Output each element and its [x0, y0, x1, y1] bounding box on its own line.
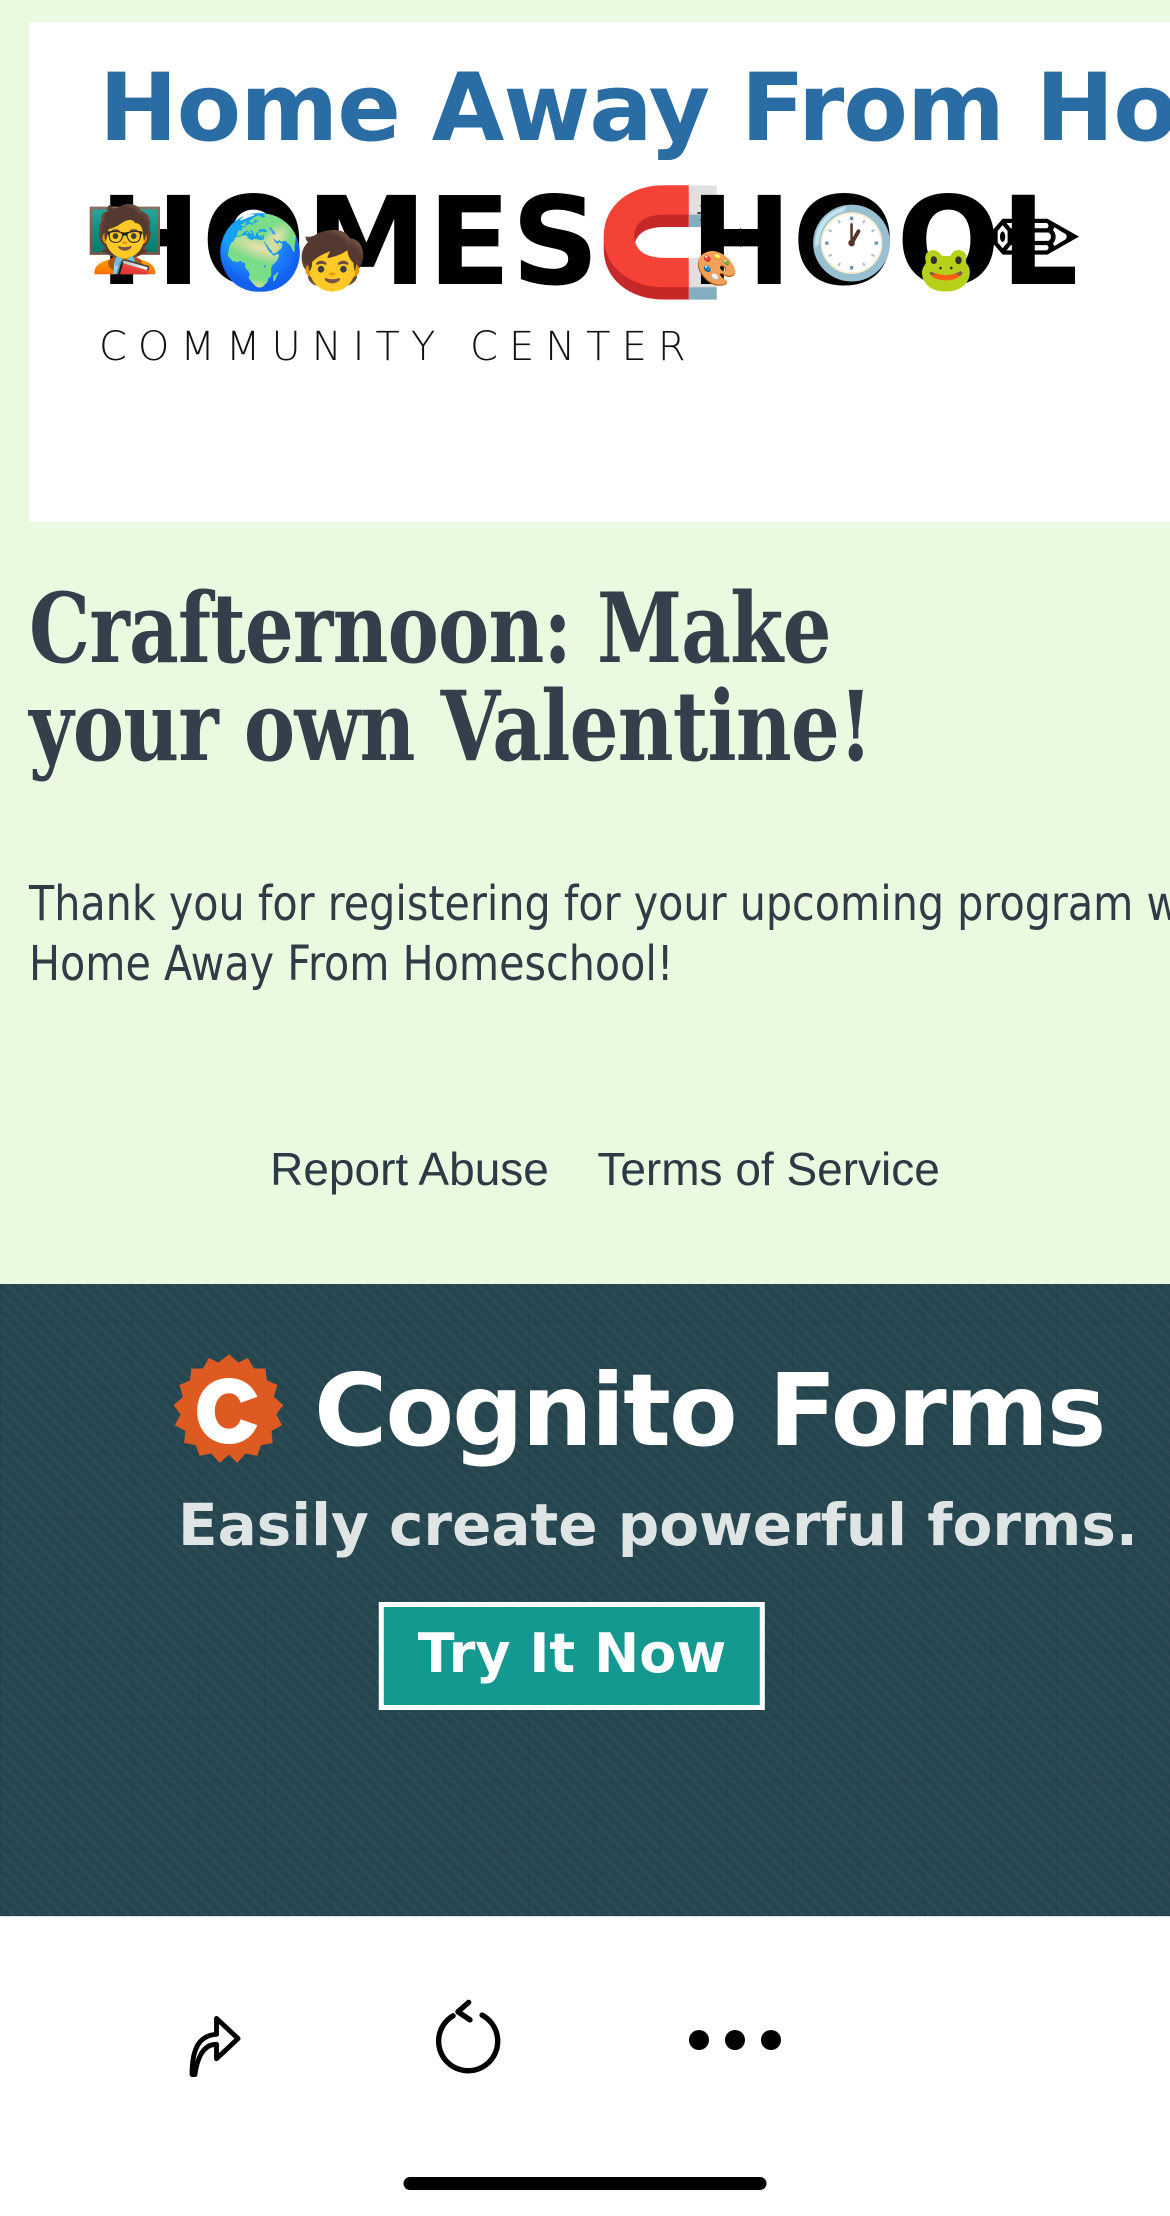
person-reading-icon: 🧑‍🏫 — [85, 208, 161, 272]
logo-letter-o2: O🕐 — [792, 182, 892, 302]
logo-letter-o1: O🌍 — [202, 182, 302, 302]
logo-title-script: Home Away From Homeschool — [99, 62, 1170, 156]
logo-letter-e: E — [428, 182, 507, 302]
footer-links: Report Abuse Terms of Service — [0, 1142, 1170, 1196]
page-top-strip — [0, 0, 1170, 22]
page-title: Crafternoon: Make your own Valentine! — [29, 580, 1149, 776]
globe-icon: 🌍 — [216, 216, 302, 288]
logo-inner: Home Away From Homeschool H🧑‍🏫 O🌍 M🧒 E S… — [99, 62, 1170, 370]
frog-icon: 🐸 — [918, 248, 969, 292]
reload-button[interactable] — [385, 1965, 555, 2115]
browser-bottom-toolbar — [0, 1916, 1170, 2216]
child-reading-icon: 🧒 — [298, 234, 364, 290]
logo-letter-h2: H✳✸🎨 — [690, 182, 788, 302]
paint-splatter-icon: ✳ — [696, 200, 717, 230]
confirmation-content: Crafternoon: Make your own Valentine! Th… — [0, 522, 1170, 1284]
logo-letter-c: C🧲 — [600, 182, 686, 302]
logo-subtitle: COMMUNITY CENTER — [99, 324, 1170, 370]
confirmation-message-line-2: Home Away From Homeschool! — [29, 934, 1170, 994]
clock-icon: 🕐 — [808, 208, 891, 278]
page-title-line-2: your own Valentine! — [29, 678, 1149, 776]
try-it-now-button[interactable]: Try It Now — [379, 1602, 765, 1710]
cognito-wordmark: Cognito Forms — [314, 1361, 1104, 1461]
logo-letter-h1: H🧑‍🏫 — [99, 182, 197, 302]
confirmation-message: Thank you for registering for your upcom… — [29, 874, 1170, 995]
share-icon — [159, 1994, 251, 2086]
report-abuse-link[interactable]: Report Abuse — [270, 1142, 549, 1196]
logo-homeschool-word: H🧑‍🏫 O🌍 M🧒 E S C🧲 H✳✸🎨 O🕐 O🐸 L✏ — [99, 182, 1170, 302]
paint-palette-icon: 🎨 — [696, 252, 734, 286]
share-button[interactable] — [120, 1965, 290, 2115]
logo-letter-s: S — [511, 182, 595, 302]
cognito-logo-row: Cognito Forms — [170, 1352, 1104, 1470]
logo-letter-l: L✏ — [1001, 182, 1075, 302]
logo-letter-m: M🧒 — [306, 182, 423, 302]
confirmation-message-line-1: Thank you for registering for your upcom… — [29, 874, 1170, 934]
more-button[interactable] — [650, 1965, 820, 2115]
terms-of-service-link[interactable]: Terms of Service — [597, 1142, 940, 1196]
paint-splatter-icon-2: ✸ — [730, 226, 748, 252]
organization-logo-card: Home Away From Homeschool H🧑‍🏫 O🌍 M🧒 E S… — [29, 22, 1170, 522]
logo-letter-o3: O🐸 — [896, 182, 996, 302]
web-page-content: Home Away From Homeschool H🧑‍🏫 O🌍 M🧒 E S… — [0, 0, 1170, 1916]
cognito-gear-icon — [170, 1352, 288, 1470]
home-indicator — [404, 2177, 767, 2190]
reload-icon — [427, 1997, 513, 2083]
cognito-forms-promo-banner: Cognito Forms Easily create powerful for… — [0, 1284, 1170, 1916]
more-icon — [689, 2030, 781, 2050]
cognito-tagline: Easily create powerful forms. — [178, 1496, 1138, 1554]
pencil-icon: ✏ — [991, 186, 1078, 294]
page-title-line-1: Crafternoon: Make — [29, 580, 1149, 678]
